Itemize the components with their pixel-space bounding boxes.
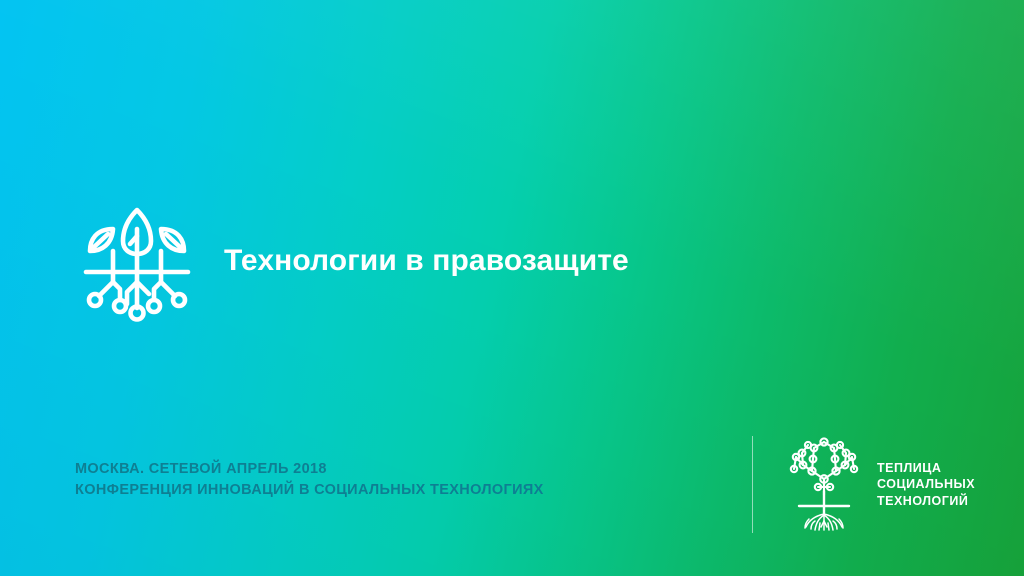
vertical-divider [752, 436, 753, 533]
brand-name-line-1: ТЕПЛИЦА [877, 460, 975, 477]
network-tree-icon [785, 435, 863, 535]
presentation-slide: Технологии в правозащите МОСКВА. СЕТЕВОЙ… [0, 0, 1024, 576]
title-lockup: Технологии в правозащите [72, 196, 629, 326]
caption-line-city-date: МОСКВА. СЕТЕВОЙ АПРЕЛЬ 2018 [75, 459, 544, 480]
event-caption: МОСКВА. СЕТЕВОЙ АПРЕЛЬ 2018 КОНФЕРЕНЦИЯ … [75, 459, 544, 501]
three-sprouts-circuit-roots-icon [72, 196, 202, 326]
brand-lockup: ТЕПЛИЦА СОЦИАЛЬНЫХ ТЕХНОЛОГИЙ [752, 432, 975, 537]
brand-name: ТЕПЛИЦА СОЦИАЛЬНЫХ ТЕХНОЛОГИЙ [877, 460, 975, 510]
brand-name-line-3: ТЕХНОЛОГИЙ [877, 493, 975, 510]
caption-line-conference: КОНФЕРЕНЦИЯ ИННОВАЦИЙ В СОЦИАЛЬНЫХ ТЕХНО… [75, 480, 544, 501]
page-title: Технологии в правозащите [224, 246, 629, 276]
brand-name-line-2: СОЦИАЛЬНЫХ [877, 476, 975, 493]
